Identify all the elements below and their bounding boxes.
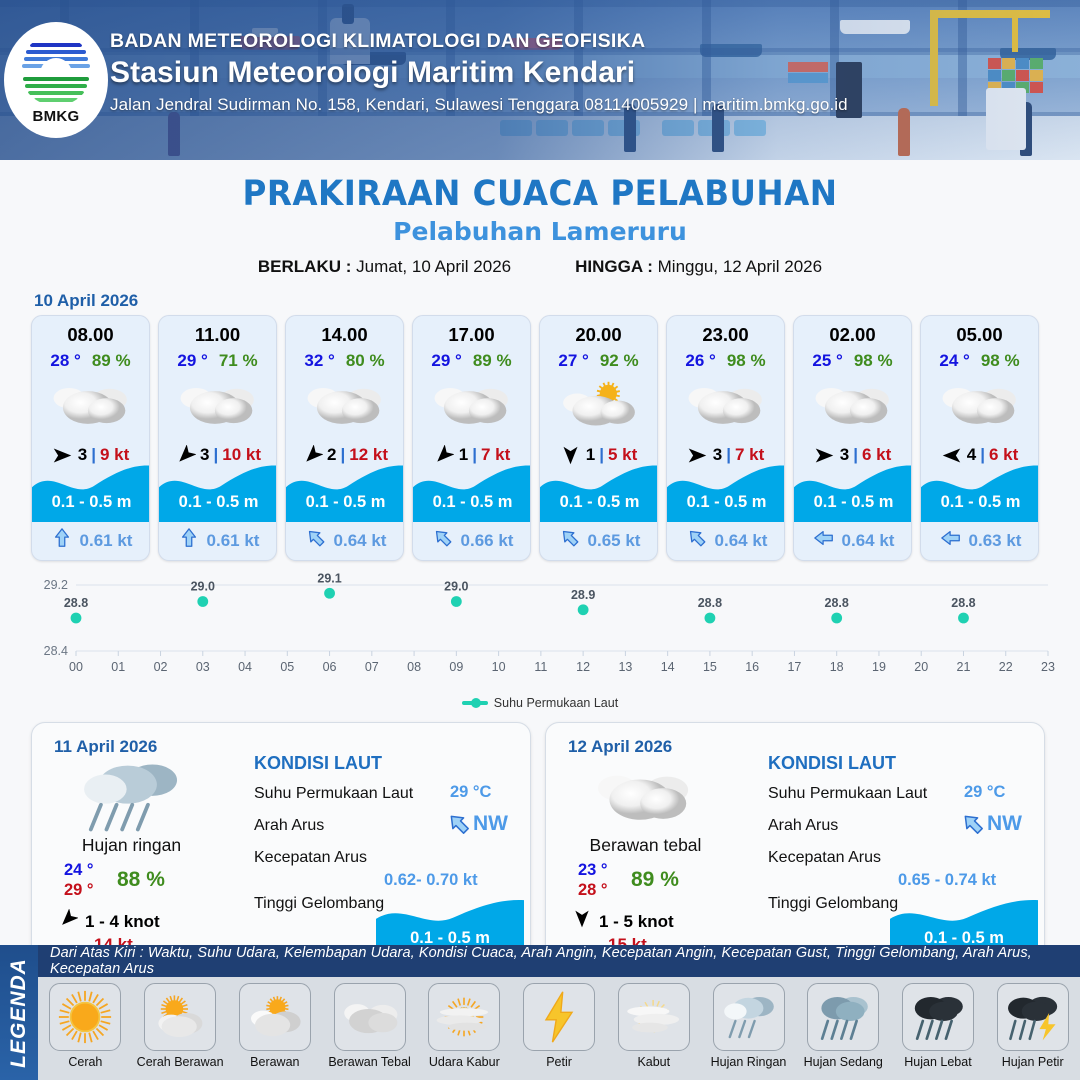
card-weather-icon	[667, 374, 784, 436]
card-temperature: 26 °	[685, 351, 715, 371]
sst-label: Suhu Permukaan Laut	[768, 785, 927, 803]
daily-temps: 24 ° 29 °	[64, 861, 94, 900]
daily-temp-max: 29 °	[64, 881, 94, 900]
hourly-forecast-row: 08.00 28 ° 89 % 3 | 9 kt 0.1 - 0.5 m	[0, 315, 1080, 561]
hourly-card[interactable]: 23.00 26 ° 98 % 3 | 7 kt 0.1 - 0.5 m	[666, 315, 785, 561]
card-temperature: 32 °	[304, 351, 334, 371]
card-wave-graphic	[921, 462, 1039, 522]
legend-caption: Dari Atas Kiri : Waktu, Suhu Udara, Kele…	[38, 945, 1080, 977]
lightning-icon	[523, 983, 595, 1051]
wave-graphic	[540, 462, 658, 522]
card-time: 14.00	[286, 324, 403, 346]
card-weather-icon	[159, 374, 276, 436]
cloud-icon	[433, 381, 511, 429]
current-direction-arrow-icon	[446, 811, 472, 837]
legend-item: Cerah	[38, 983, 133, 1069]
svg-text:29.1: 29.1	[317, 573, 341, 585]
current-direction-arrow-icon	[686, 527, 708, 549]
valid-to-value: Minggu, 12 April 2026	[658, 257, 822, 276]
legend-item-label: Cerah Berawan	[137, 1055, 224, 1069]
svg-text:06: 06	[323, 660, 337, 674]
daily-wind-row: 1 - 5 knot	[572, 909, 674, 934]
legend-item-label: Udara Kabur	[429, 1055, 500, 1069]
card-weather-icon	[32, 374, 149, 436]
card-weather-icon	[286, 374, 403, 436]
svg-text:23: 23	[1041, 660, 1055, 674]
legend-item: Hujan Petir	[985, 983, 1080, 1069]
svg-text:28.8: 28.8	[64, 596, 88, 610]
legend-item-label: Hujan Sedang	[804, 1055, 883, 1069]
hourly-date: 10 April 2026	[34, 291, 1080, 311]
light-rain-icon	[713, 983, 785, 1051]
card-wave-graphic	[540, 462, 658, 522]
svg-text:05: 05	[280, 660, 294, 674]
current-direction-value: NW	[473, 812, 508, 836]
sea-conditions-header: KONDISI LAUT	[254, 753, 382, 774]
legend-bar: LEGENDA Dari Atas Kiri : Waktu, Suhu Uda…	[0, 945, 1080, 1080]
card-temperature: 29 °	[177, 351, 207, 371]
daily-current-direction: NW	[446, 811, 508, 837]
card-temperature: 29 °	[431, 351, 461, 371]
page-title: PRAKIRAAN CUACA PELABUHAN	[38, 174, 1042, 214]
daily-wind-direction-icon	[58, 909, 78, 934]
daily-temp-max: 28 °	[578, 881, 608, 900]
light-rain-icon	[74, 760, 186, 834]
svg-text:09: 09	[449, 660, 463, 674]
heavy-rain-icon	[902, 983, 974, 1051]
legend-item-label: Berawan	[250, 1055, 299, 1069]
daily-wind-range: 1 - 5 knot	[599, 912, 674, 932]
sst-value: 29 °C	[964, 783, 1005, 802]
svg-text:21: 21	[957, 660, 971, 674]
sst-legend-marker-icon	[462, 701, 488, 705]
card-current-row: 0.65 kt	[540, 527, 658, 554]
card-wave-graphic	[286, 462, 404, 522]
daily-current-direction: NW	[960, 811, 1022, 837]
current-direction-label: Arah Arus	[768, 817, 838, 835]
legend-item: Hujan Sedang	[796, 983, 891, 1069]
cloud-icon	[306, 381, 384, 429]
legend-item: Hujan Ringan	[701, 983, 796, 1069]
current-direction-label: Arah Arus	[254, 817, 324, 835]
card-current-speed: 0.61 kt	[207, 531, 260, 551]
current-direction-arrow-icon	[813, 527, 835, 549]
card-current-direction-icon	[305, 527, 327, 554]
wave-graphic	[921, 462, 1039, 522]
card-humidity: 80 %	[346, 351, 385, 371]
wave-height-label: Tinggi Gelombang	[768, 895, 898, 913]
svg-text:20: 20	[914, 660, 928, 674]
daily-wave-value: 0.1 - 0.5 m	[376, 929, 524, 948]
daily-wind-direction-icon	[572, 909, 592, 934]
hourly-card[interactable]: 14.00 32 ° 80 % 2 | 12 kt 0.1 - 0.5 m	[285, 315, 404, 561]
port-name: Pelabuhan Lameruru	[0, 217, 1080, 246]
station-address: Jalan Jendral Sudirman No. 158, Kendari,…	[110, 95, 970, 115]
validity-row: BERLAKU : Jumat, 10 April 2026 HINGGA : …	[0, 257, 1080, 277]
wave-height-label: Tinggi Gelombang	[254, 895, 384, 913]
legend-item: Kabut	[606, 983, 701, 1069]
card-wave-height: 0.1 - 0.5 m	[159, 493, 277, 512]
daily-wave-value: 0.1 - 0.5 m	[890, 929, 1038, 948]
hourly-card[interactable]: 02.00 25 ° 98 % 3 | 6 kt 0.1 - 0.5 m	[793, 315, 912, 561]
card-wave-graphic	[32, 462, 150, 522]
card-current-speed: 0.64 kt	[334, 531, 387, 551]
daily-wind-row: 1 - 4 knot	[58, 909, 160, 934]
daily-condition: Berawan tebal	[558, 835, 733, 856]
card-time: 05.00	[921, 324, 1038, 346]
current-direction-arrow-icon	[305, 527, 327, 549]
legend-item-label: Hujan Lebat	[904, 1055, 971, 1069]
bmkg-logo-emblem	[20, 34, 92, 106]
svg-text:04: 04	[238, 660, 252, 674]
valid-to-label: HINGGA :	[575, 257, 653, 276]
daily-humidity: 88 %	[117, 868, 165, 892]
cloud-icon	[687, 381, 765, 429]
moderate-rain-icon	[807, 983, 879, 1051]
svg-text:29.0: 29.0	[444, 580, 468, 594]
card-current-direction-icon	[432, 527, 454, 554]
page-header: BMKG BADAN METEOROLOGI KLIMATOLOGI DAN G…	[0, 0, 1080, 160]
card-wave-height: 0.1 - 0.5 m	[667, 493, 785, 512]
svg-text:15: 15	[703, 660, 717, 674]
daily-forecast-panel[interactable]: 12 April 2026 Berawan tebal 23 ° 28 ° 89…	[545, 722, 1045, 967]
svg-text:16: 16	[745, 660, 759, 674]
hourly-card[interactable]: 17.00 29 ° 89 % 1 | 7 kt 0.1 - 0.5 m	[412, 315, 531, 561]
svg-text:18: 18	[830, 660, 844, 674]
sst-legend-label: Suhu Permukaan Laut	[494, 696, 618, 710]
card-current-speed: 0.61 kt	[80, 531, 133, 551]
bmkg-logo: BMKG	[4, 22, 108, 138]
daily-temp-min: 24 °	[64, 861, 94, 880]
legend-item-label: Hujan Petir	[1002, 1055, 1064, 1069]
current-direction-arrow-icon	[960, 811, 986, 837]
card-time: 20.00	[540, 324, 657, 346]
card-weather-icon	[413, 374, 530, 436]
svg-text:28.4: 28.4	[44, 644, 68, 658]
card-current-row: 0.61 kt	[32, 527, 150, 554]
svg-text:13: 13	[618, 660, 632, 674]
card-wave-graphic	[159, 462, 277, 522]
daily-temp-min: 23 °	[578, 861, 608, 880]
card-current-direction-icon	[813, 527, 835, 554]
legend-item-label: Cerah	[68, 1055, 102, 1069]
svg-text:07: 07	[365, 660, 379, 674]
wave-graphic	[413, 462, 531, 522]
svg-text:28.8: 28.8	[951, 596, 975, 610]
card-time: 23.00	[667, 324, 784, 346]
card-humidity: 98 %	[727, 351, 766, 371]
svg-text:01: 01	[111, 660, 125, 674]
svg-text:12: 12	[576, 660, 590, 674]
card-current-direction-icon	[178, 527, 200, 554]
wave-graphic	[667, 462, 785, 522]
legend-items: Cerah Cerah Berawan Berawan Berawan Teba…	[38, 977, 1080, 1080]
card-current-speed: 0.64 kt	[715, 531, 768, 551]
card-current-row: 0.64 kt	[286, 527, 404, 554]
card-humidity: 98 %	[854, 351, 893, 371]
cloud-icon	[596, 767, 692, 827]
station-name: Stasiun Meteorologi Maritim Kendari	[110, 56, 970, 90]
current-direction-arrow-icon	[432, 527, 454, 549]
haze-icon	[428, 983, 500, 1051]
cloud-icon	[814, 381, 892, 429]
card-temperature: 25 °	[812, 351, 842, 371]
card-time: 17.00	[413, 324, 530, 346]
sst-chart-svg: 29.228.400010203040506070809101112131415…	[18, 573, 1062, 691]
card-weather-icon	[540, 374, 657, 436]
legend-item-label: Berawan Tebal	[328, 1055, 410, 1069]
card-current-row: 0.61 kt	[159, 527, 277, 554]
card-weather-icon	[794, 374, 911, 436]
card-current-speed: 0.63 kt	[969, 531, 1022, 551]
current-speed-label: Kecepatan Arus	[254, 849, 367, 867]
cloud-icon	[52, 381, 130, 429]
legend-item: Petir	[512, 983, 607, 1069]
card-current-direction-icon	[559, 527, 581, 554]
thunderstorm-icon	[997, 983, 1069, 1051]
svg-text:00: 00	[69, 660, 83, 674]
daily-date: 12 April 2026	[568, 737, 672, 757]
card-current-direction-icon	[51, 527, 73, 554]
card-current-direction-icon	[686, 527, 708, 554]
forecast-title-block: PRAKIRAAN CUACA PELABUHAN Pelabuhan Lame…	[0, 174, 1080, 277]
legend-item-label: Petir	[546, 1055, 572, 1069]
hourly-card[interactable]: 08.00 28 ° 89 % 3 | 9 kt 0.1 - 0.5 m	[31, 315, 150, 561]
current-speed-value: 0.65 - 0.74 kt	[898, 871, 996, 890]
daily-humidity: 89 %	[631, 868, 679, 892]
valid-from-label: BERLAKU :	[258, 257, 352, 276]
sun-cloud-icon	[560, 381, 638, 429]
card-weather-icon	[921, 374, 1038, 436]
wind-direction-arrow-icon	[58, 909, 78, 929]
legend-item: Cerah Berawan	[133, 983, 228, 1069]
hourly-card[interactable]: 20.00 27 ° 92 % 1 | 5 kt 0.1 - 0.5 m	[539, 315, 658, 561]
legend-item: Hujan Lebat	[891, 983, 986, 1069]
cloud-icon	[941, 381, 1019, 429]
wave-graphic	[286, 462, 404, 522]
svg-text:28.8: 28.8	[698, 596, 722, 610]
legend-side-label: LEGENDA	[0, 945, 38, 1080]
daily-weather-icon	[584, 761, 704, 833]
sun-cloud-icon	[144, 983, 216, 1051]
sun-icon	[49, 983, 121, 1051]
card-humidity: 71 %	[219, 351, 258, 371]
legend-item-label: Kabut	[637, 1055, 670, 1069]
svg-text:29.0: 29.0	[191, 580, 215, 594]
svg-text:02: 02	[154, 660, 168, 674]
card-current-row: 0.66 kt	[413, 527, 531, 554]
card-wave-height: 0.1 - 0.5 m	[540, 493, 658, 512]
card-wave-height: 0.1 - 0.5 m	[32, 493, 150, 512]
sst-label: Suhu Permukaan Laut	[254, 785, 413, 803]
card-time: 11.00	[159, 324, 276, 346]
card-current-speed: 0.64 kt	[842, 531, 895, 551]
daily-wind-range: 1 - 4 knot	[85, 912, 160, 932]
wave-graphic	[159, 462, 277, 522]
card-wave-height: 0.1 - 0.5 m	[794, 493, 912, 512]
card-current-row: 0.64 kt	[667, 527, 785, 554]
card-wave-graphic	[413, 462, 531, 522]
svg-text:10: 10	[492, 660, 506, 674]
daily-forecast-row: 11 April 2026 Hujan ringan 24 ° 29 ° 88 …	[0, 710, 1080, 967]
card-wave-height: 0.1 - 0.5 m	[286, 493, 404, 512]
card-wave-graphic	[667, 462, 785, 522]
hourly-card[interactable]: 11.00 29 ° 71 % 3 | 10 kt 0.1 - 0.5 m	[158, 315, 277, 561]
svg-text:22: 22	[999, 660, 1013, 674]
card-humidity: 89 %	[92, 351, 131, 371]
legend-item-label: Hujan Ringan	[711, 1055, 787, 1069]
legend-item: Berawan	[227, 983, 322, 1069]
current-direction-arrow-icon	[940, 527, 962, 549]
card-current-speed: 0.66 kt	[461, 531, 514, 551]
svg-text:19: 19	[872, 660, 886, 674]
wave-graphic	[794, 462, 912, 522]
svg-text:28.8: 28.8	[825, 596, 849, 610]
sea-conditions-header: KONDISI LAUT	[768, 753, 896, 774]
current-direction-arrow-icon	[559, 527, 581, 549]
sst-chart-legend: Suhu Permukaan Laut	[0, 696, 1080, 710]
valid-from-value: Jumat, 10 April 2026	[356, 257, 511, 276]
card-wave-graphic	[794, 462, 912, 522]
card-wave-height: 0.1 - 0.5 m	[921, 493, 1039, 512]
heavy-cloud-icon	[334, 983, 406, 1051]
svg-text:29.2: 29.2	[44, 578, 68, 592]
fog-icon	[618, 983, 690, 1051]
cloud-sun-icon	[239, 983, 311, 1051]
current-direction-value: NW	[987, 812, 1022, 836]
daily-temps: 23 ° 28 °	[578, 861, 608, 900]
daily-weather-icon	[70, 761, 190, 833]
current-speed-label: Kecepatan Arus	[768, 849, 881, 867]
card-humidity: 92 %	[600, 351, 639, 371]
card-time: 08.00	[32, 324, 149, 346]
legend-item: Berawan Tebal	[322, 983, 417, 1069]
current-direction-arrow-icon	[51, 527, 73, 549]
bmkg-logo-text: BMKG	[17, 108, 95, 125]
svg-text:08: 08	[407, 660, 421, 674]
current-speed-value: 0.62- 0.70 kt	[384, 871, 478, 890]
svg-text:03: 03	[196, 660, 210, 674]
card-current-row: 0.63 kt	[921, 527, 1039, 554]
wind-direction-arrow-icon	[572, 909, 592, 929]
card-humidity: 98 %	[981, 351, 1020, 371]
svg-text:14: 14	[661, 660, 675, 674]
current-direction-arrow-icon	[178, 527, 200, 549]
svg-text:11: 11	[534, 660, 547, 674]
card-temperature: 24 °	[939, 351, 969, 371]
card-current-direction-icon	[940, 527, 962, 554]
card-time: 02.00	[794, 324, 911, 346]
sst-value: 29 °C	[450, 783, 491, 802]
card-wave-height: 0.1 - 0.5 m	[413, 493, 531, 512]
card-temperature: 28 °	[50, 351, 80, 371]
card-temperature: 27 °	[558, 351, 588, 371]
card-current-speed: 0.65 kt	[588, 531, 641, 551]
daily-forecast-panel[interactable]: 11 April 2026 Hujan ringan 24 ° 29 ° 88 …	[31, 722, 531, 967]
daily-date: 11 April 2026	[54, 737, 157, 757]
valid-to: HINGGA : Minggu, 12 April 2026	[575, 257, 822, 277]
legend-item: Udara Kabur	[417, 983, 512, 1069]
svg-text:17: 17	[787, 660, 801, 674]
valid-from: BERLAKU : Jumat, 10 April 2026	[258, 257, 511, 277]
svg-text:28.9: 28.9	[571, 588, 595, 602]
cloud-icon	[179, 381, 257, 429]
card-humidity: 89 %	[473, 351, 512, 371]
sst-chart: 29.228.400010203040506070809101112131415…	[18, 573, 1062, 693]
hourly-card[interactable]: 05.00 24 ° 98 % 4 | 6 kt 0.1 - 0.5 m	[920, 315, 1039, 561]
agency-name: BADAN METEOROLOGI KLIMATOLOGI DAN GEOFIS…	[110, 30, 970, 53]
daily-condition: Hujan ringan	[44, 835, 219, 856]
wave-graphic	[32, 462, 150, 522]
card-current-row: 0.64 kt	[794, 527, 912, 554]
